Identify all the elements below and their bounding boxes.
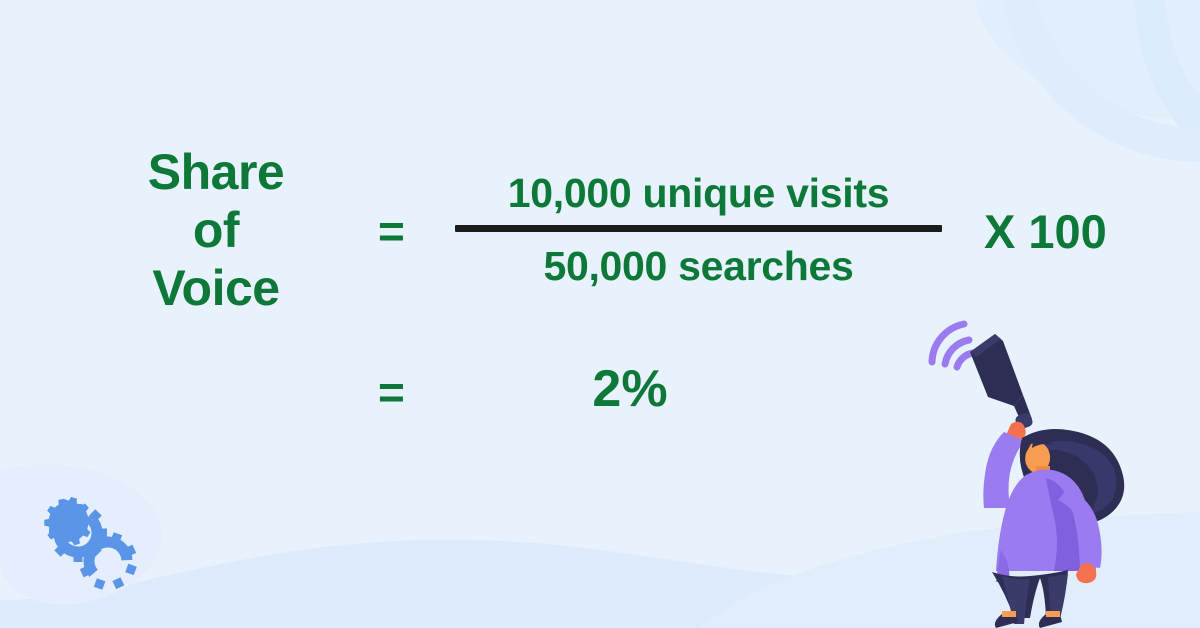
woman-with-megaphone-illustration <box>918 310 1128 628</box>
label-line-1: Share <box>88 143 344 201</box>
fraction-bar <box>455 225 942 232</box>
equals-sign-second: = <box>378 369 405 415</box>
multiplier-label: X 100 <box>984 208 1107 255</box>
label-line-3: Voice <box>88 259 344 317</box>
equals-sign-first: = <box>378 208 405 254</box>
fraction: 10,000 unique visits 50,000 searches <box>455 168 942 291</box>
sound-wave-arcs <box>932 324 973 367</box>
result-value: 2% <box>455 363 805 415</box>
fraction-numerator: 10,000 unique visits <box>455 168 942 218</box>
share-of-voice-infographic: Share of Voice = 10,000 unique visits 50… <box>0 0 1200 628</box>
label-line-2: of <box>88 201 344 259</box>
megaphone <box>970 334 1034 430</box>
fraction-denominator: 50,000 searches <box>455 241 942 291</box>
share-of-voice-label: Share of Voice <box>88 143 344 317</box>
